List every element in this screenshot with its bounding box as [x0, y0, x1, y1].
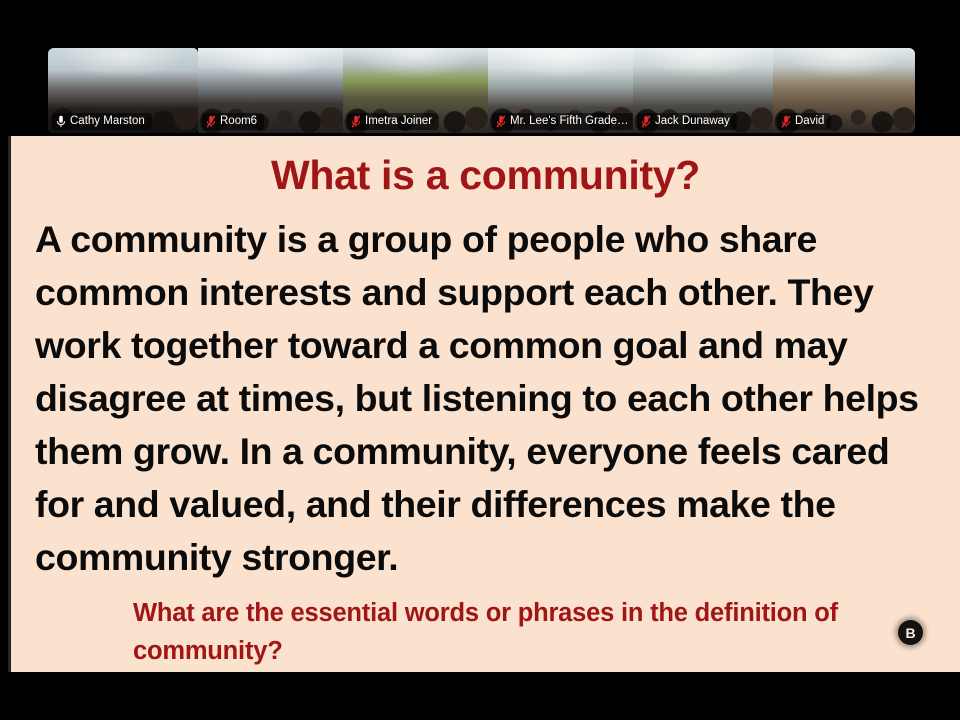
participant-tile-david[interactable]: David — [773, 48, 915, 133]
slide-question-text: What are the essential words or phrases … — [11, 584, 960, 670]
mic-muted-icon — [496, 115, 506, 128]
participant-tile-jack-dunaway[interactable]: Jack Dunaway — [633, 48, 773, 133]
mic-muted-icon — [641, 115, 651, 128]
mic-muted-icon — [351, 115, 361, 128]
slide-body-text: A community is a group of people who sha… — [11, 199, 960, 584]
participant-name-bar: Cathy Marston — [52, 113, 152, 130]
participant-name-label: Imetra Joiner — [365, 114, 432, 128]
participant-name-label: Room6 — [220, 114, 257, 128]
participant-name-bar: Jack Dunaway — [637, 113, 737, 130]
participant-name-bar: Imetra Joiner — [347, 113, 439, 130]
participant-tile-cathy-marston[interactable]: Cathy Marston — [48, 48, 198, 133]
participant-tile-imetra-joiner[interactable]: Imetra Joiner — [343, 48, 488, 133]
participant-name-label: Mr. Lee's Fifth Grade E… — [510, 114, 631, 128]
zoom-screen-share-window: Cathy Marston Room6 — [0, 0, 960, 720]
participant-name-bar: Mr. Lee's Fifth Grade E… — [492, 113, 633, 130]
slide-title: What is a community? — [11, 136, 960, 199]
participant-filmstrip: Cathy Marston Room6 — [48, 48, 915, 133]
participant-tile-mr-lees-fifth-grade[interactable]: Mr. Lee's Fifth Grade E… — [488, 48, 633, 133]
participant-tile-room6[interactable]: Room6 — [198, 48, 343, 133]
mic-muted-icon — [781, 115, 791, 128]
participant-name-label: David — [795, 114, 824, 128]
participant-name-label: Jack Dunaway — [655, 114, 730, 128]
annotation-badge[interactable]: B — [898, 620, 923, 645]
shared-slide: What is a community? A community is a gr… — [8, 136, 960, 672]
participant-name-bar: Room6 — [202, 113, 264, 130]
annotation-badge-glyph: B — [905, 626, 915, 640]
participant-name-label: Cathy Marston — [70, 114, 145, 128]
participant-name-bar: David — [777, 113, 831, 130]
mic-unmuted-icon — [56, 115, 66, 128]
mic-muted-icon — [206, 115, 216, 128]
